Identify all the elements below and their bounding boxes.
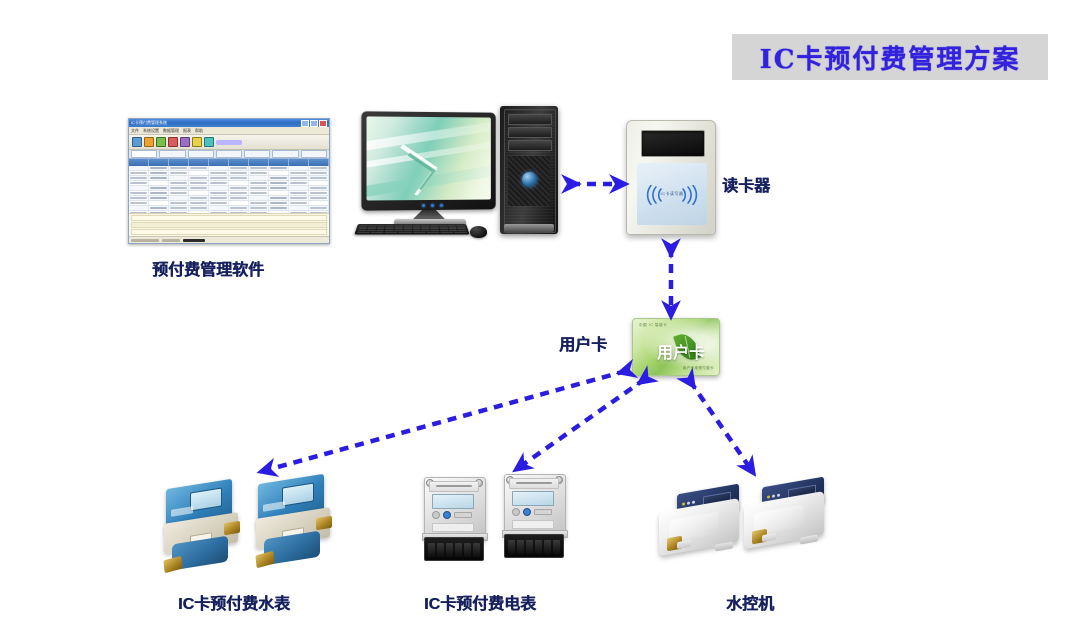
tab-7[interactable]: [301, 150, 327, 158]
table-cell[interactable]: [189, 201, 209, 205]
detail-line-1: [131, 215, 327, 221]
key-icon[interactable]: [777, 493, 780, 497]
table-cell[interactable]: [289, 166, 309, 170]
menu-item-data[interactable]: 数据管理: [163, 127, 179, 134]
software-statusbar: [129, 236, 329, 243]
table-cell[interactable]: [149, 181, 169, 185]
table-cell[interactable]: [249, 171, 269, 175]
software-detail-panel: [129, 213, 329, 236]
maximize-icon[interactable]: [310, 120, 318, 127]
table-cell[interactable]: [289, 171, 309, 175]
table-cell[interactable]: [129, 176, 149, 180]
key-icon[interactable]: [687, 501, 690, 505]
tab-3[interactable]: [188, 150, 214, 158]
table-cell[interactable]: [269, 181, 289, 185]
card-reader-body: IC卡读写器: [626, 120, 716, 235]
tab-2[interactable]: [159, 150, 185, 158]
card-word-text: 用户卡: [657, 339, 705, 363]
table-cell[interactable]: [189, 206, 209, 210]
indicator-icon: [512, 508, 520, 516]
terminal-block: [504, 534, 564, 558]
title-banner: IC卡预付费管理方案: [732, 34, 1048, 80]
menu-item-help[interactable]: 帮助: [195, 127, 203, 134]
toolbar-status-pill: [216, 140, 242, 145]
tab-4[interactable]: [216, 150, 242, 158]
table-cell[interactable]: [289, 186, 309, 190]
table-cell[interactable]: [169, 201, 189, 205]
electric-meter-controls: [512, 507, 552, 517]
table-grid[interactable]: [129, 166, 329, 213]
table-cell[interactable]: [269, 211, 289, 213]
table-cell[interactable]: [189, 186, 209, 190]
caption-card-reader: 读卡器: [722, 172, 770, 196]
tab-6[interactable]: [272, 150, 298, 158]
table-cell[interactable]: [169, 181, 189, 185]
software-titlebar-text: IC卡预付费管理系统: [131, 119, 167, 127]
table-cell[interactable]: [209, 191, 229, 195]
table-cell[interactable]: [189, 191, 209, 195]
column-header-cell[interactable]: [309, 159, 329, 166]
menu-item-file[interactable]: 文件: [131, 127, 139, 134]
card-reader-lcd-display: [641, 130, 705, 157]
table-cell[interactable]: [229, 206, 249, 210]
table-cell[interactable]: [289, 206, 309, 210]
table-cell[interactable]: [149, 191, 169, 195]
table-cell[interactable]: [129, 206, 149, 210]
table-cell[interactable]: [209, 176, 229, 180]
column-header-cell[interactable]: [269, 159, 289, 166]
table-cell[interactable]: [149, 201, 169, 205]
table-cell[interactable]: [229, 181, 249, 185]
table-cell[interactable]: [189, 171, 209, 175]
table-cell[interactable]: [229, 176, 249, 180]
open-icon[interactable]: [144, 137, 154, 147]
detail-line-3: [131, 229, 327, 235]
close-icon[interactable]: [319, 120, 327, 127]
table-cell[interactable]: [209, 186, 229, 190]
table-cell[interactable]: [249, 186, 269, 190]
table-cell[interactable]: [249, 211, 269, 213]
table-cell[interactable]: [149, 196, 169, 200]
table-cell[interactable]: [149, 206, 169, 210]
table-cell[interactable]: [249, 181, 269, 185]
table-cell[interactable]: [129, 171, 149, 175]
software-titlebar: IC卡预付费管理系统: [129, 119, 329, 127]
table-cell[interactable]: [269, 201, 289, 205]
table-cell[interactable]: [229, 166, 249, 170]
table-cell[interactable]: [169, 171, 189, 175]
led-icon: [439, 204, 442, 207]
statusbar-segment-2: [162, 239, 180, 242]
caption-electric-meter: IC卡预付费电表: [424, 590, 536, 614]
search-icon[interactable]: [192, 137, 202, 147]
table-cell[interactable]: [269, 171, 289, 175]
table-cell[interactable]: [289, 201, 309, 205]
table-cell[interactable]: [289, 181, 309, 185]
statusbar-segment-1: [131, 239, 159, 242]
table-cell[interactable]: [309, 211, 329, 213]
table-cell[interactable]: [149, 211, 169, 213]
window-controls[interactable]: [301, 120, 327, 127]
card-reader-logo-text: IC卡读写器: [661, 191, 684, 197]
table-cell[interactable]: [229, 211, 249, 213]
new-record-icon[interactable]: [132, 137, 142, 147]
table-cell[interactable]: [229, 186, 249, 190]
caption-prepaid-software: 预付费管理软件: [152, 256, 264, 280]
column-header-cell[interactable]: [209, 159, 229, 166]
table-cell[interactable]: [149, 186, 169, 190]
arrow-card-to-water-meter: [267, 371, 626, 470]
drive-bay: [508, 140, 552, 151]
save-icon[interactable]: [156, 137, 166, 147]
electric-meter-spec-text: [432, 523, 474, 532]
water-controller-device: [655, 487, 747, 565]
pc-tower: [500, 106, 558, 234]
table-cell[interactable]: [289, 191, 309, 195]
table-cell[interactable]: [269, 176, 289, 180]
table-cell[interactable]: [169, 176, 189, 180]
electric-meter-lcd-display: [432, 494, 474, 509]
table-cell[interactable]: [289, 196, 309, 200]
table-cell[interactable]: [249, 176, 269, 180]
page-title: IC卡预付费管理方案: [760, 39, 1021, 76]
table-cell[interactable]: [209, 206, 229, 210]
electric-meter-spec-text: [512, 520, 554, 529]
table-cell[interactable]: [269, 191, 289, 195]
minimize-icon[interactable]: [301, 120, 309, 127]
table-cell[interactable]: [249, 191, 269, 195]
statusbar-ready-text: [183, 239, 205, 242]
table-cell[interactable]: [309, 176, 329, 180]
key-icon[interactable]: [772, 494, 775, 498]
card-slot: [454, 512, 472, 518]
table-cell[interactable]: [229, 191, 249, 195]
indicator-icon: [432, 511, 440, 519]
power-button-icon[interactable]: [522, 172, 537, 187]
table-cell[interactable]: [229, 196, 249, 200]
table-cell[interactable]: [309, 181, 329, 185]
water-meter-device: [160, 478, 252, 578]
keyboard: [354, 224, 469, 235]
table-cell[interactable]: [269, 196, 289, 200]
table-cell[interactable]: [189, 166, 209, 170]
column-header-cell[interactable]: [129, 159, 149, 166]
card-slot: [534, 509, 552, 515]
keyboard-row: [357, 232, 467, 234]
key-icon[interactable]: [682, 502, 685, 506]
caption-user-card: 用户卡: [559, 331, 607, 355]
monitor-frame: [361, 111, 495, 210]
print-icon[interactable]: [180, 137, 190, 147]
table-cell[interactable]: [309, 191, 329, 195]
table-cell[interactable]: [309, 171, 329, 175]
table-cell[interactable]: [149, 166, 169, 170]
desktop-computer: [352, 104, 587, 250]
table-cell[interactable]: [289, 211, 309, 213]
table-cell[interactable]: [309, 206, 329, 210]
table-cell[interactable]: [249, 196, 269, 200]
table-cell[interactable]: [309, 166, 329, 170]
table-row[interactable]: [129, 211, 329, 213]
column-header-cell[interactable]: [249, 159, 269, 166]
tab-5[interactable]: [244, 150, 270, 158]
electric-meter-device: [500, 472, 572, 564]
user-ic-card: 中国 IC 智能卡 用户卡 用户专用预付费卡: [632, 318, 720, 376]
table-cell[interactable]: [229, 171, 249, 175]
led-icon: [422, 204, 425, 207]
menu-item-settings[interactable]: 系统设置: [143, 127, 159, 134]
drive-bay: [508, 114, 552, 125]
table-cell[interactable]: [309, 201, 329, 205]
table-cell[interactable]: [269, 166, 289, 170]
table-cell[interactable]: [269, 206, 289, 210]
mounting-foot: [800, 534, 818, 544]
table-cell[interactable]: [189, 211, 209, 213]
mouse: [470, 226, 487, 238]
table-cell[interactable]: [169, 196, 189, 200]
electric-meter-controls: [432, 510, 472, 520]
terminal-block: [424, 537, 484, 561]
table-cell[interactable]: [129, 201, 149, 205]
card-reader-contact-pad: IC卡读写器: [637, 163, 707, 225]
tab-active[interactable]: [131, 150, 157, 158]
mounting-foot: [715, 541, 733, 551]
electric-meter-lcd-display: [512, 491, 554, 506]
table-cell[interactable]: [149, 176, 169, 180]
card-slot-icon: [443, 511, 451, 519]
table-cell[interactable]: [169, 191, 189, 195]
electric-meter-device: [420, 475, 492, 567]
monitor-led-indicators: [414, 204, 450, 207]
table-cell[interactable]: [189, 196, 209, 200]
table-cell[interactable]: [269, 186, 289, 190]
key-icon[interactable]: [767, 495, 770, 499]
table-cell[interactable]: [129, 191, 149, 195]
table-cell[interactable]: [169, 211, 189, 213]
column-header-cell[interactable]: [149, 159, 169, 166]
software-tab-row[interactable]: [129, 150, 329, 159]
card-reader-device: IC卡读写器: [626, 120, 716, 235]
diagram-canvas: IC卡预付费管理方案 IC卡预付费管理系统 文件 系统设置 数据管理 报表 帮助: [0, 0, 1066, 640]
electric-meter-nameplate: [429, 481, 479, 492]
table-column-header: [129, 159, 329, 166]
table-cell[interactable]: [129, 166, 149, 170]
table-cell[interactable]: [169, 186, 189, 190]
menu-item-report[interactable]: 报表: [183, 127, 191, 134]
table-cell[interactable]: [209, 196, 229, 200]
delete-icon[interactable]: [168, 137, 178, 147]
key-icon[interactable]: [692, 500, 695, 504]
electric-meter-nameplate: [509, 478, 559, 489]
table-cell[interactable]: [249, 201, 269, 205]
table-cell[interactable]: [169, 166, 189, 170]
caption-water-controller: 水控机: [726, 590, 774, 614]
water-controller-device: [740, 480, 832, 558]
column-header-cell[interactable]: [189, 159, 209, 166]
table-cell[interactable]: [149, 171, 169, 175]
brass-fitting-icon: [224, 521, 240, 536]
table-cell[interactable]: [309, 196, 329, 200]
arrow-card-to-water-controller: [690, 381, 750, 468]
table-cell[interactable]: [129, 211, 149, 213]
table-cell[interactable]: [189, 181, 209, 185]
brass-fitting-icon: [255, 551, 274, 568]
table-cell[interactable]: [309, 186, 329, 190]
software-menubar[interactable]: 文件 系统设置 数据管理 报表 帮助: [129, 127, 329, 135]
column-header-cell[interactable]: [289, 159, 309, 166]
brass-fitting-icon: [316, 516, 332, 531]
column-header-cell[interactable]: [169, 159, 189, 166]
card-top-text: 中国 IC 智能卡: [639, 323, 667, 328]
software-toolbar[interactable]: [129, 135, 329, 150]
card-slot-icon: [523, 508, 531, 516]
water-meter-device: [252, 473, 344, 573]
table-cell[interactable]: [289, 176, 309, 180]
table-cell[interactable]: [249, 166, 269, 170]
table-cell[interactable]: [249, 206, 269, 210]
column-header-cell[interactable]: [229, 159, 249, 166]
arrow-card-to-electric-meter: [521, 379, 645, 466]
caption-water-meter: IC卡预付费水表: [178, 590, 290, 614]
card-bottom-text: 用户专用预付费卡: [683, 366, 714, 371]
table-cell[interactable]: [209, 166, 229, 170]
table-cell[interactable]: [169, 206, 189, 210]
prepaid-management-software-window[interactable]: IC卡预付费管理系统 文件 系统设置 数据管理 报表 帮助: [128, 118, 330, 244]
table-cell[interactable]: [129, 181, 149, 185]
table-cell[interactable]: [209, 201, 229, 205]
table-cell[interactable]: [209, 181, 229, 185]
table-cell[interactable]: [209, 211, 229, 213]
table-cell[interactable]: [229, 201, 249, 205]
table-cell[interactable]: [129, 186, 149, 190]
led-icon: [430, 204, 433, 207]
drive-bay: [508, 127, 552, 138]
brass-fitting-icon: [163, 556, 182, 573]
settings-icon[interactable]: [204, 137, 214, 147]
table-cell[interactable]: [189, 176, 209, 180]
table-cell[interactable]: [129, 196, 149, 200]
table-cell[interactable]: [209, 171, 229, 175]
monitor-screen: [367, 116, 491, 200]
detail-line-2: [131, 222, 327, 228]
tower-base: [504, 224, 554, 232]
